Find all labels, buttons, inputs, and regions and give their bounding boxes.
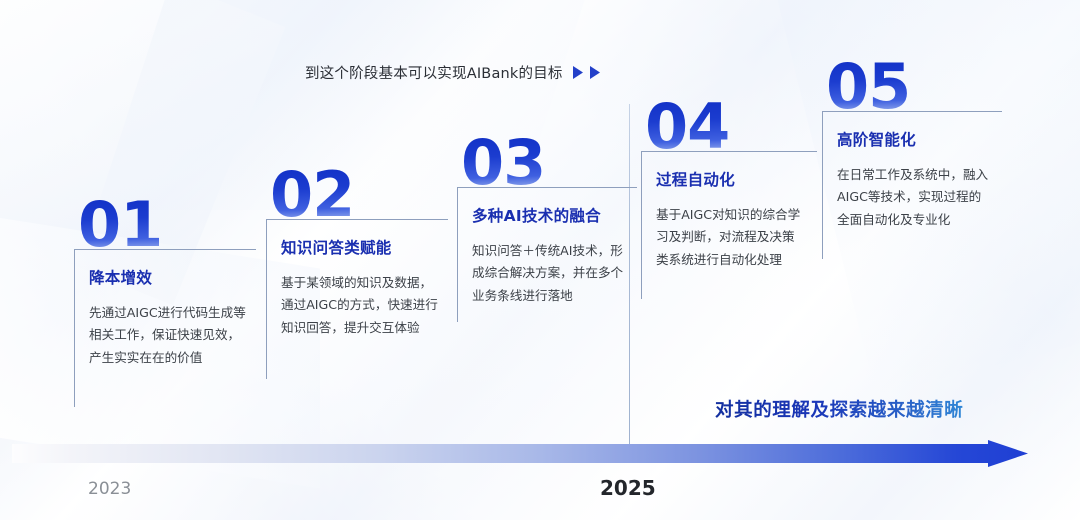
- stage-card-body: 知识问答类赋能 基于某领域的知识及数据，通过AIGC的方式，快速进行知识回答，提…: [266, 219, 448, 379]
- tagline-text: 对其的理解及探索越来越清晰: [715, 396, 963, 422]
- stage-card-03: 03 多种AI技术的融合 知识问答＋传统AI技术，形成综合解决方案，并在多个业务…: [457, 134, 637, 322]
- stage-number: 04: [645, 98, 729, 157]
- stage-card-body: 多种AI技术的融合 知识问答＋传统AI技术，形成综合解决方案，并在多个业务条线进…: [457, 187, 637, 322]
- stage-number: 05: [826, 58, 910, 117]
- double-chevron-right-icon: [572, 64, 604, 81]
- slide-canvas: 到这个阶段基本可以实现AIBank的目标 01 降本增效 先通过AIGC进行代码…: [0, 0, 1080, 520]
- timeline-arrow: [0, 440, 1080, 474]
- stage-description: 知识问答＋传统AI技术，形成综合解决方案，并在多个业务条线进行落地: [472, 240, 627, 307]
- stage-card-01: 01 降本增效 先通过AIGC进行代码生成等相关工作，保证快速见效，产生实实在在…: [74, 196, 256, 407]
- stage-card-body: 过程自动化 基于AIGC对知识的综合学习及判断，对流程及决策类系统进行自动化处理: [641, 151, 817, 299]
- stage-description: 先通过AIGC进行代码生成等相关工作，保证快速见效，产生实实在在的价值: [89, 302, 246, 369]
- stage-number: 03: [461, 134, 545, 193]
- stage-card-body: 高阶智能化 在日常工作及系统中，融入AIGC等技术，实现过程的全面自动化及专业化: [822, 111, 1002, 259]
- timeline-year-start: 2023: [88, 479, 131, 499]
- stage-description: 基于某领域的知识及数据，通过AIGC的方式，快速进行知识回答，提升交互体验: [281, 272, 438, 339]
- stage-description: 基于AIGC对知识的综合学习及判断，对流程及决策类系统进行自动化处理: [656, 204, 807, 271]
- callout-text: 到这个阶段基本可以实现AIBank的目标: [305, 62, 563, 83]
- timeline-year-mid: 2025: [600, 476, 656, 500]
- callout-annotation: 到这个阶段基本可以实现AIBank的目标: [305, 62, 604, 83]
- stage-number: 02: [270, 166, 354, 225]
- stage-card-04: 04 过程自动化 基于AIGC对知识的综合学习及判断，对流程及决策类系统进行自动…: [641, 98, 817, 299]
- stage-description: 在日常工作及系统中，融入AIGC等技术，实现过程的全面自动化及专业化: [837, 164, 992, 231]
- stage-number: 01: [78, 196, 162, 255]
- stage-card-05: 05 高阶智能化 在日常工作及系统中，融入AIGC等技术，实现过程的全面自动化及…: [822, 58, 1002, 259]
- stage-title: 高阶智能化: [837, 128, 992, 150]
- stage-title: 多种AI技术的融合: [472, 204, 627, 226]
- stage-title: 知识问答类赋能: [281, 236, 438, 258]
- stage-title: 降本增效: [89, 266, 246, 288]
- stage-title: 过程自动化: [656, 168, 807, 190]
- stage-card-02: 02 知识问答类赋能 基于某领域的知识及数据，通过AIGC的方式，快速进行知识回…: [266, 166, 448, 379]
- stage-card-body: 降本增效 先通过AIGC进行代码生成等相关工作，保证快速见效，产生实实在在的价值: [74, 249, 256, 407]
